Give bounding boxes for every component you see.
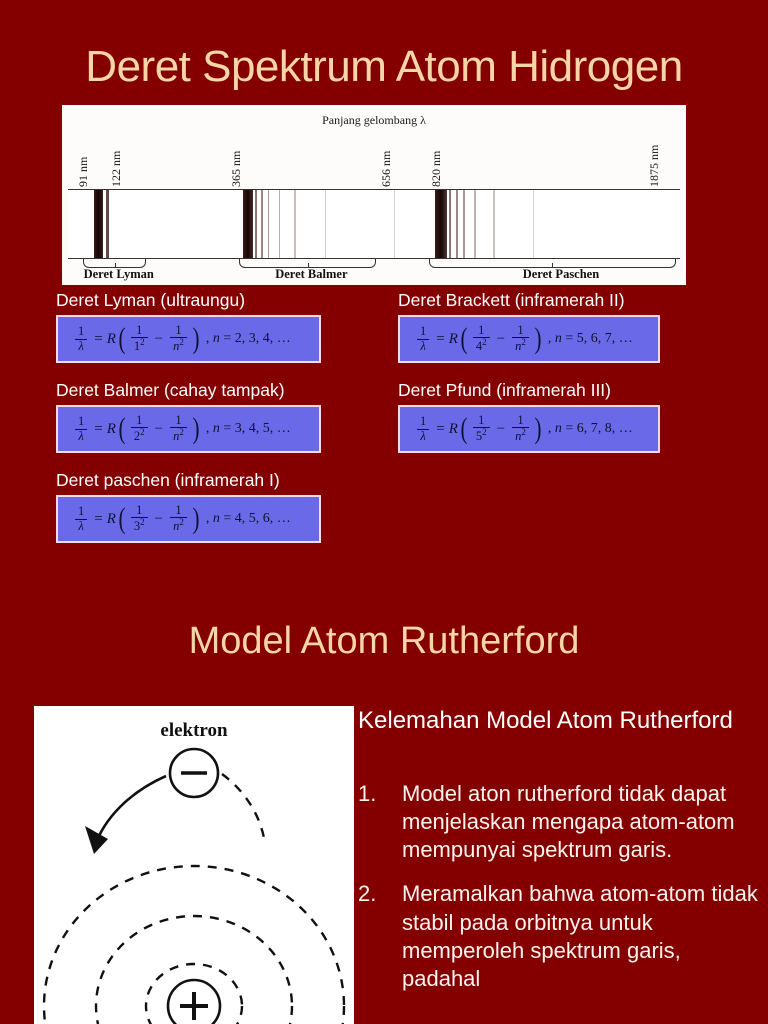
spectral-band [261, 190, 263, 258]
rutherford-atom-figure: elektron [34, 706, 354, 1024]
spectral-band [255, 190, 257, 258]
spectral-band [294, 190, 295, 258]
wavelength-tick: 91 nm [91, 129, 105, 187]
formula-expression: 1λ=R(132−1n2), n = 4, 5, 6, … [72, 504, 291, 533]
series-formula-box: 1λ=R(112−1n2), n = 2, 3, 4, … [56, 315, 321, 363]
spectral-band [94, 190, 104, 258]
page-title-spectrum: Deret Spektrum Atom Hidrogen [0, 42, 768, 92]
rutherford-diagram-svg [34, 706, 354, 1024]
list-item-text: Meramalkan bahwa atom-atom tidak stabil … [402, 880, 762, 993]
spectral-band [279, 190, 280, 258]
series-formula-heading: Deret paschen (inframerah I) [56, 470, 280, 491]
wavelength-axis: Panjang gelombang λ [68, 113, 680, 127]
weakness-list: 1.Model aton rutherford tidak dapat menj… [358, 780, 762, 1009]
list-item: 2.Meramalkan bahwa atom-atom tidak stabi… [358, 880, 762, 993]
series-name-label: Deret Balmer [243, 267, 380, 282]
series-formula-box: 1λ=R(142−1n2), n = 5, 6, 7, … [398, 315, 660, 363]
spectral-band [449, 190, 451, 258]
spectral-band [493, 190, 494, 258]
list-item-number: 2. [358, 880, 402, 993]
wavelength-tick: 1875 nm [662, 129, 676, 187]
list-item-number: 1. [358, 780, 402, 864]
spectral-band [106, 190, 109, 258]
spectral-band [463, 190, 465, 258]
wavelength-tick-label: 365 nm [229, 151, 244, 187]
spectral-band [268, 190, 270, 258]
series-formula-box: 1λ=R(152−1n2), n = 6, 7, 8, … [398, 405, 660, 453]
formula-expression: 1λ=R(152−1n2), n = 6, 7, 8, … [414, 414, 633, 443]
series-name-label: Deret Paschen [436, 267, 686, 282]
weakness-heading: Kelemahan Model Atom Rutherford [358, 706, 762, 735]
wavelength-tick-label: 656 nm [379, 151, 394, 187]
list-item-text: Model aton rutherford tidak dapat menjel… [402, 780, 762, 864]
wavelength-tick: 656 nm [394, 129, 408, 187]
formula-expression: 1λ=R(112−1n2), n = 2, 3, 4, … [72, 324, 291, 353]
spectrum-strip [68, 189, 680, 259]
series-formula-box: 1λ=R(132−1n2), n = 4, 5, 6, … [56, 495, 321, 543]
series-formula-box: 1λ=R(122−1n2), n = 3, 4, 5, … [56, 405, 321, 453]
axis-label-wrap: Panjang gelombang λ [68, 113, 680, 128]
series-name-label: Deret Lyman [84, 267, 146, 282]
wavelength-tick-label: 1875 nm [647, 145, 662, 187]
spectral-band [325, 190, 326, 258]
spectral-band [243, 190, 253, 258]
spectral-band [435, 190, 447, 258]
spectral-band [533, 190, 534, 258]
wavelength-tick: 122 nm [124, 129, 138, 187]
axis-label: Panjang gelombang λ [316, 113, 432, 127]
wavelength-tick-label: 122 nm [109, 151, 124, 187]
series-formula-heading: Deret Pfund (inframerah III) [398, 380, 611, 401]
page-title-rutherford: Model Atom Rutherford [0, 620, 768, 663]
formula-expression: 1λ=R(122−1n2), n = 3, 4, 5, … [72, 414, 291, 443]
wavelength-tick-label: 820 nm [429, 151, 444, 187]
list-item: 1.Model aton rutherford tidak dapat menj… [358, 780, 762, 864]
spectral-band [474, 190, 475, 258]
series-formula-heading: Deret Balmer (cahay tampak) [56, 380, 285, 401]
series-formula-heading: Deret Lyman (ultraungu) [56, 290, 245, 311]
series-formula-heading: Deret Brackett (inframerah II) [398, 290, 625, 311]
wavelength-tick-label: 91 nm [76, 157, 91, 187]
wavelength-tick: 820 nm [444, 129, 458, 187]
spectral-band [394, 190, 395, 258]
formula-expression: 1λ=R(142−1n2), n = 5, 6, 7, … [414, 324, 633, 353]
wavelength-tick: 365 nm [244, 129, 258, 187]
hydrogen-spectrum-figure: Panjang gelombang λ 91 nm122 nm365 nm656… [62, 105, 686, 285]
spectral-band [456, 190, 458, 258]
electron-label: elektron [34, 720, 354, 742]
